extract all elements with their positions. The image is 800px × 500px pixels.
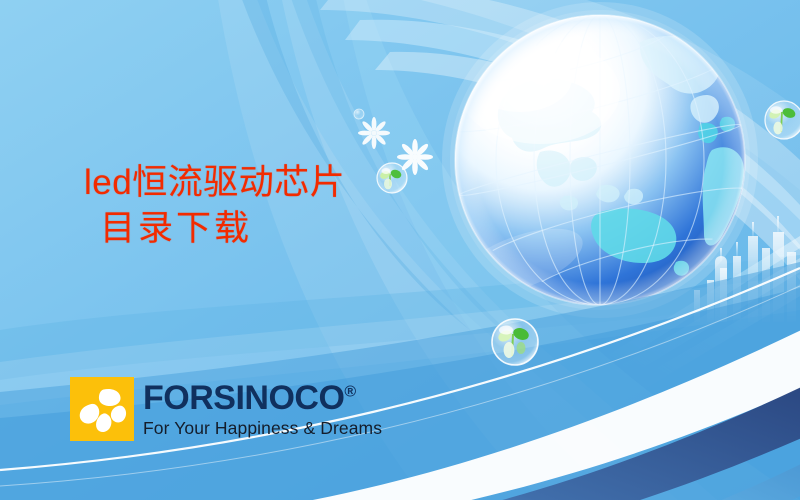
- registered-trademark-icon: ®: [344, 383, 355, 400]
- logo-wordmark: FORSINOCO® For Your Happiness & Dreams: [143, 381, 382, 438]
- headline-line-1: led恒流驱动芯片: [84, 160, 345, 206]
- brand-name-text: FORSINOCO: [143, 379, 344, 417]
- bubble-tiny: [354, 109, 364, 119]
- four-petal-flower-logo-icon: [70, 377, 134, 441]
- brand-name: FORSINOCO®: [143, 381, 382, 415]
- starburst-flower-1: [358, 117, 390, 149]
- bubble-with-sprout-large: [492, 319, 538, 365]
- brand-tagline: For Your Happiness & Dreams: [143, 420, 382, 438]
- company-logo: FORSINOCO® For Your Happiness & Dreams: [70, 377, 382, 441]
- bubble-with-sprout-edge: [765, 101, 800, 139]
- bubble-with-sprout-small: [377, 163, 407, 193]
- promo-banner: led恒流驱动芯片 目录下载 FORSINOCO® For Your Happi…: [0, 0, 800, 500]
- headline-line-2: 目录下载: [84, 206, 345, 252]
- headline-block: led恒流驱动芯片 目录下载: [84, 160, 345, 251]
